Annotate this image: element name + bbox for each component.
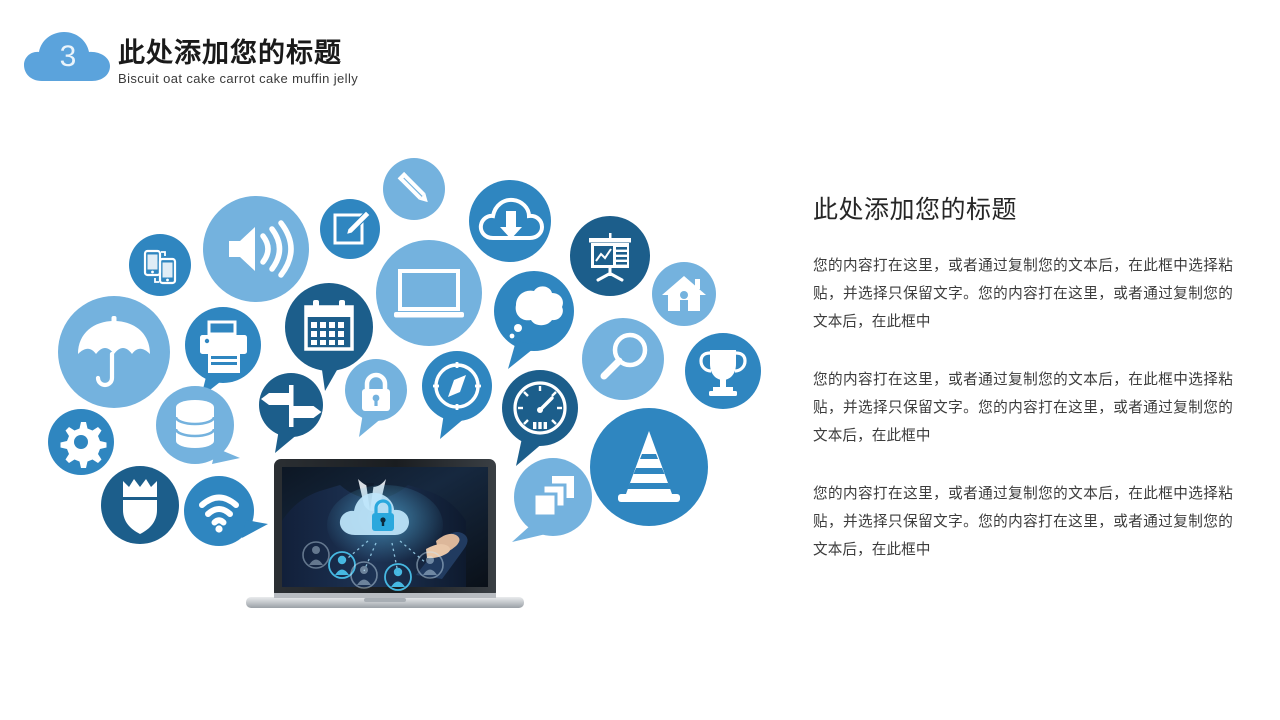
traffic-cone-icon [590, 408, 708, 526]
trophy-icon [685, 333, 761, 409]
page-title: 此处添加您的标题 [118, 31, 342, 70]
page-subtitle: Biscuit oat cake carrot cake muffin jell… [118, 71, 358, 86]
lock-icon [345, 359, 417, 443]
signpost-icon [259, 373, 333, 459]
content-panel: 此处添加您的标题 您的内容打在这里，或者通过复制您的文本后，在此框中选择粘贴，并… [813, 190, 1233, 564]
slide: 3 此处添加您的标题 Biscuit oat cake carrot cake … [0, 0, 1280, 720]
magnifier-icon [582, 318, 664, 400]
icon-cloud-illustration [0, 140, 800, 640]
shield-crown-icon [101, 466, 179, 544]
pencil-icon [383, 158, 445, 220]
content-title: 此处添加您的标题 [813, 190, 1233, 226]
cloud-download-icon [469, 180, 551, 262]
home-icon [652, 262, 716, 326]
content-paragraph-3: 您的内容打在这里，或者通过复制您的文本后，在此框中选择粘贴，并选择只保留文字。您… [813, 480, 1233, 564]
content-paragraph-1: 您的内容打在这里，或者通过复制您的文本后，在此框中选择粘贴，并选择只保留文字。您… [813, 252, 1233, 336]
edit-note-icon [320, 199, 380, 259]
slide-header: 3 此处添加您的标题 Biscuit oat cake carrot cake … [0, 0, 1280, 110]
thought-bubble-icon [494, 271, 584, 375]
compass-icon [422, 351, 504, 445]
badge-number: 3 [22, 31, 112, 83]
laptop-device [240, 455, 530, 615]
laptop-screen-icon [376, 240, 482, 346]
phones-sync-icon [129, 234, 191, 296]
content-paragraph-2: 您的内容打在这里，或者通过复制您的文本后，在此框中选择粘贴，并选择只保留文字。您… [813, 366, 1233, 450]
umbrella-icon [58, 296, 170, 408]
